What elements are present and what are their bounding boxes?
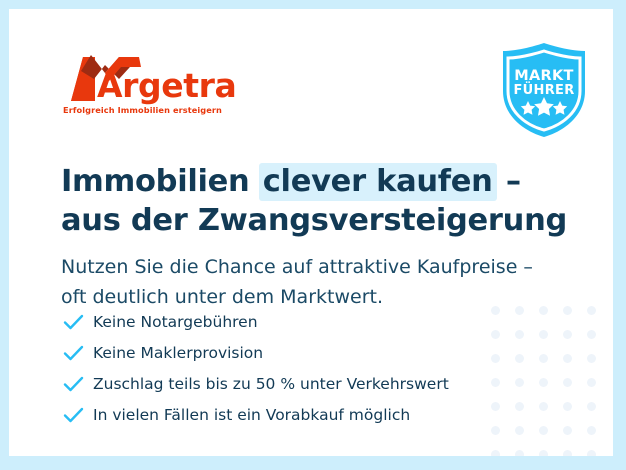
decorative-dot <box>587 450 596 456</box>
check-icon <box>63 405 93 425</box>
decorative-dot <box>491 450 500 456</box>
list-item-label: Keine Maklerprovision <box>93 344 263 362</box>
list-item: Keine Notargebühren <box>63 307 533 337</box>
list-item: Zuschlag teils bis zu 50 % unter Verkehr… <box>63 369 533 399</box>
decorative-dot <box>539 450 548 456</box>
decorative-dot <box>563 354 572 363</box>
headline-text-after: – <box>496 164 521 199</box>
headline-highlight: clever kaufen <box>259 163 497 201</box>
headline-line-2: aus der Zwangsversteigerung <box>61 201 561 240</box>
list-item-label: Zuschlag teils bis zu 50 % unter Verkehr… <box>93 375 449 393</box>
decorative-dot <box>539 378 548 387</box>
decorative-dot <box>515 450 524 456</box>
badge-line-2: FÜHRER <box>497 83 591 98</box>
check-icon <box>63 374 93 394</box>
badge-line-1: MARKT <box>497 68 591 84</box>
logo-wordmark: Argetra <box>97 69 236 102</box>
subheadline-line-1: Nutzen Sie die Chance auf attraktive Kau… <box>61 252 581 282</box>
logo-tagline: Erfolgreich Immobilien ersteigern <box>63 105 222 115</box>
decorative-dot <box>587 354 596 363</box>
decorative-dot <box>587 378 596 387</box>
decorative-dot <box>563 402 572 411</box>
headline-text-before: Immobilien <box>61 164 260 199</box>
subheadline: Nutzen Sie die Chance auf attraktive Kau… <box>61 252 581 312</box>
decorative-dot <box>539 330 548 339</box>
decorative-dot <box>587 306 596 315</box>
check-icon <box>63 343 93 363</box>
decorative-dot <box>587 330 596 339</box>
list-item: Keine Maklerprovision <box>63 338 533 368</box>
argetra-logo: Argetra Erfolgreich Immobilien ersteiger… <box>61 51 251 119</box>
decorative-dot <box>563 450 572 456</box>
decorative-dot <box>539 354 548 363</box>
headline-line-1: Immobilien clever kaufen – <box>61 162 561 201</box>
check-icon <box>63 312 93 332</box>
decorative-dot <box>539 426 548 435</box>
benefit-list: Keine Notargebühren Keine Maklerprovisio… <box>63 307 533 431</box>
list-item-label: Keine Notargebühren <box>93 313 258 331</box>
market-leader-badge: MARKT FÜHRER <box>497 41 591 139</box>
page-title: Immobilien clever kaufen – aus der Zwang… <box>61 162 561 240</box>
decorative-dot <box>539 402 548 411</box>
decorative-dot <box>563 330 572 339</box>
decorative-dot <box>563 426 572 435</box>
decorative-dot <box>563 378 572 387</box>
banner-card: Argetra Erfolgreich Immobilien ersteiger… <box>9 9 613 456</box>
list-item-label: In vielen Fällen ist ein Vorabkauf mögli… <box>93 406 410 424</box>
decorative-dot <box>587 426 596 435</box>
decorative-dot <box>587 402 596 411</box>
promo-banner: Argetra Erfolgreich Immobilien ersteiger… <box>0 0 626 470</box>
list-item: In vielen Fällen ist ein Vorabkauf mögli… <box>63 400 533 430</box>
